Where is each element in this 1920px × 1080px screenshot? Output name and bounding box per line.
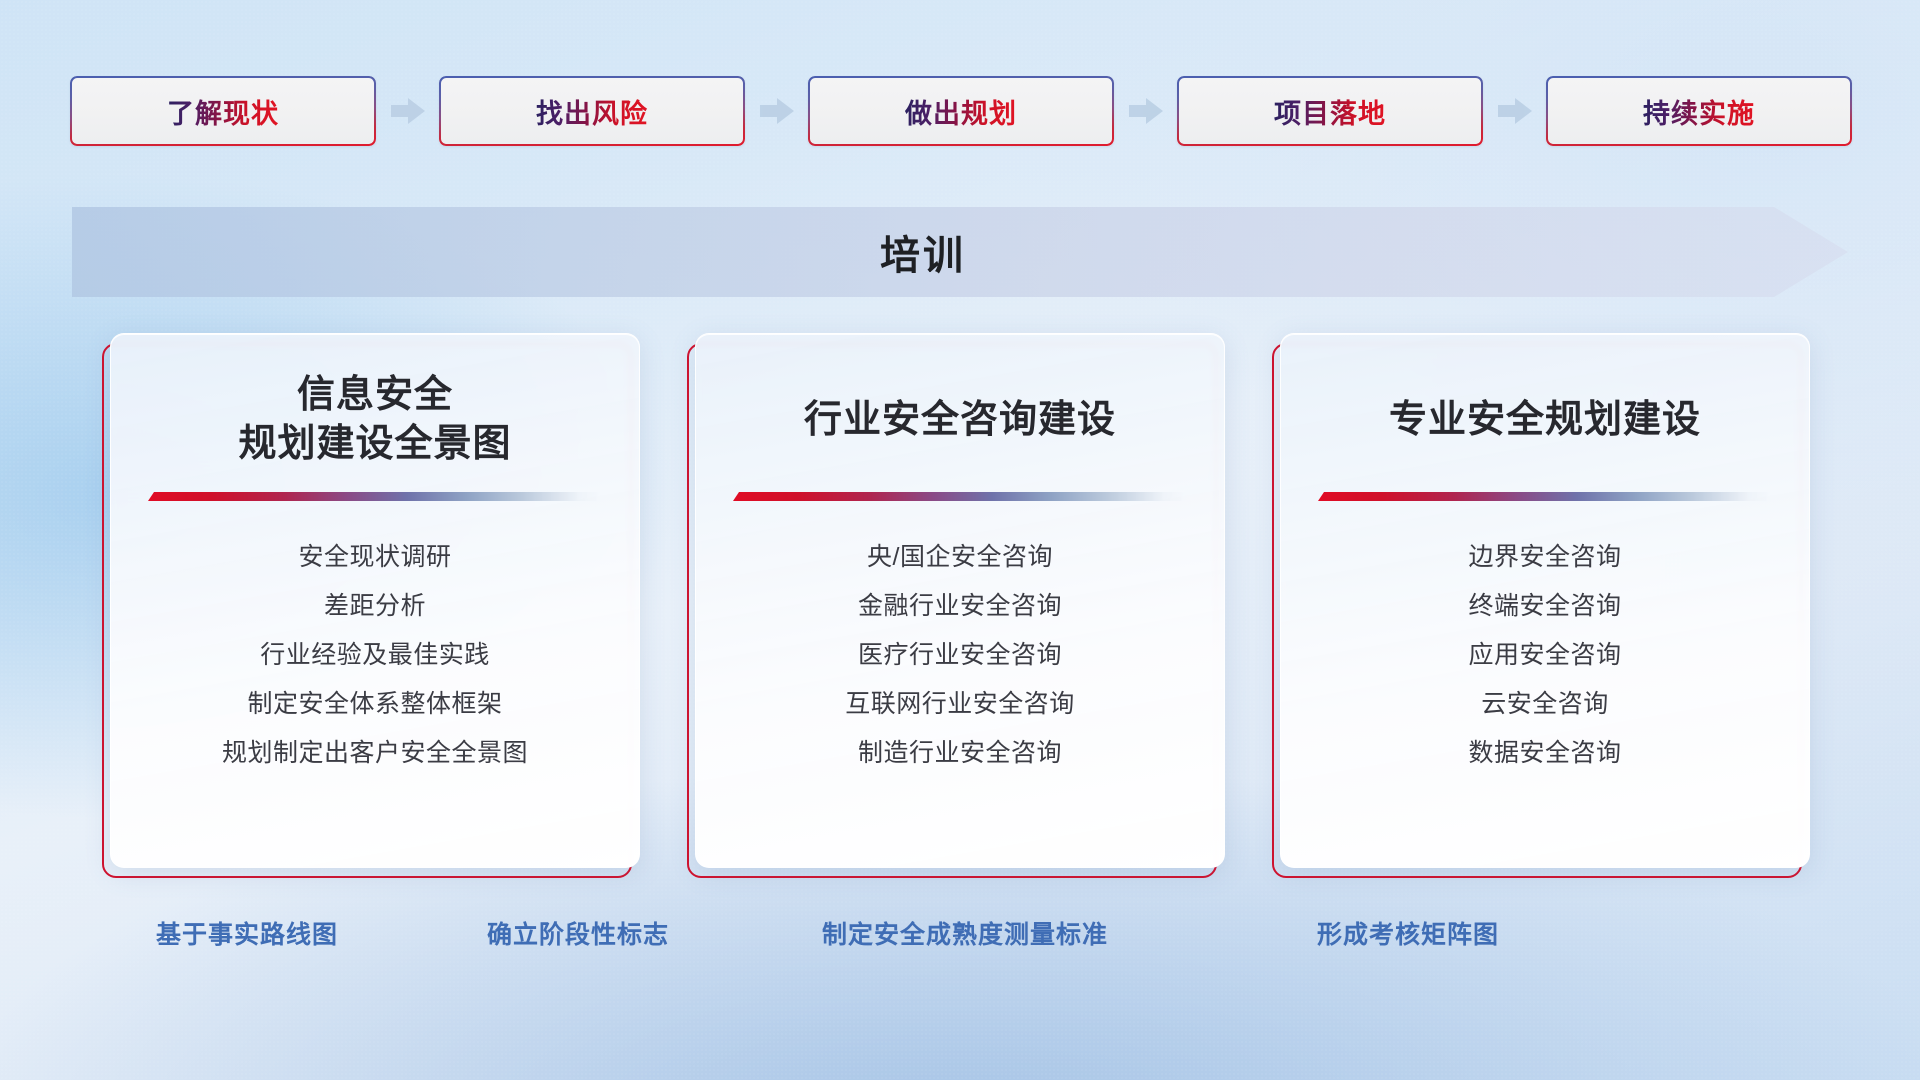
- footer-label-4: 形成考核矩阵图: [1317, 915, 1499, 951]
- list-item[interactable]: 行业经验及最佳实践: [111, 631, 639, 680]
- card-item-list: 安全现状调研差距分析行业经验及最佳实践制定安全体系整体框架规划制定出客户安全全景…: [111, 533, 639, 778]
- list-item[interactable]: 医疗行业安全咨询: [696, 631, 1224, 680]
- card-group: 信息安全规划建设全景图安全现状调研差距分析行业经验及最佳实践制定安全体系整体框架…: [110, 333, 1810, 868]
- list-item[interactable]: 边界安全咨询: [1281, 533, 1809, 582]
- list-item[interactable]: 终端安全咨询: [1281, 582, 1809, 631]
- process-step-4[interactable]: 项目落地: [1177, 76, 1483, 146]
- list-item[interactable]: 互联网行业安全咨询: [696, 680, 1224, 729]
- list-item[interactable]: 规划制定出客户安全全景图: [111, 729, 639, 778]
- process-step-label: 项目落地: [1274, 92, 1386, 131]
- card-title-line: 行业安全咨询建设: [804, 396, 1116, 445]
- process-step-label: 找出风险: [536, 92, 648, 131]
- card-divider: [733, 492, 1187, 501]
- process-step-label: 持续实施: [1643, 92, 1755, 131]
- service-card-1[interactable]: 信息安全规划建设全景图安全现状调研差距分析行业经验及最佳实践制定安全体系整体框架…: [110, 333, 640, 868]
- list-item[interactable]: 应用安全咨询: [1281, 631, 1809, 680]
- footer-label-group: 基于事实路线图确立阶段性标志制定安全成熟度测量标准形成考核矩阵图: [0, 915, 1920, 955]
- service-card-2[interactable]: 行业安全咨询建设央/国企安全咨询金融行业安全咨询医疗行业安全咨询互联网行业安全咨…: [695, 333, 1225, 868]
- list-item[interactable]: 数据安全咨询: [1281, 729, 1809, 778]
- process-step-3[interactable]: 做出规划: [808, 76, 1114, 146]
- step-connector-2: [745, 98, 808, 124]
- chevron-right-icon: [1498, 98, 1532, 124]
- card-item-list: 边界安全咨询终端安全咨询应用安全咨询云安全咨询数据安全咨询: [1281, 533, 1809, 778]
- process-step-label: 做出规划: [905, 92, 1017, 131]
- list-item[interactable]: 云安全咨询: [1281, 680, 1809, 729]
- step-connector-3: [1114, 98, 1177, 124]
- banner-title: 培训: [72, 207, 1774, 297]
- card-divider: [1318, 492, 1772, 501]
- step-connector-1: [376, 98, 439, 124]
- process-step-1[interactable]: 了解现状: [70, 76, 376, 146]
- step-connector-4: [1483, 98, 1546, 124]
- card-title-line: 专业安全规划建设: [1389, 396, 1701, 445]
- process-step-5[interactable]: 持续实施: [1546, 76, 1852, 146]
- card-title: 行业安全咨询建设: [778, 370, 1142, 470]
- training-banner: 培训: [72, 207, 1848, 297]
- footer-label-1: 基于事实路线图: [156, 915, 338, 951]
- list-item[interactable]: 制定安全体系整体框架: [111, 680, 639, 729]
- card-item-list: 央/国企安全咨询金融行业安全咨询医疗行业安全咨询互联网行业安全咨询制造行业安全咨…: [696, 533, 1224, 778]
- card-body: 信息安全规划建设全景图安全现状调研差距分析行业经验及最佳实践制定安全体系整体框架…: [110, 333, 640, 868]
- chevron-right-icon: [391, 98, 425, 124]
- card-title-line: 规划建设全景图: [238, 420, 511, 469]
- chevron-right-icon: [1129, 98, 1163, 124]
- list-item[interactable]: 制造行业安全咨询: [696, 729, 1224, 778]
- card-title: 专业安全规划建设: [1363, 370, 1727, 470]
- list-item[interactable]: 差距分析: [111, 582, 639, 631]
- infographic-canvas: 了解现状找出风险做出规划项目落地持续实施 培训 信息安全规划建设全景图安全现状调…: [0, 0, 1920, 1080]
- card-body: 专业安全规划建设边界安全咨询终端安全咨询应用安全咨询云安全咨询数据安全咨询: [1280, 333, 1810, 868]
- process-step-label: 了解现状: [167, 92, 279, 131]
- list-item[interactable]: 安全现状调研: [111, 533, 639, 582]
- card-divider: [148, 492, 602, 501]
- chevron-right-icon: [760, 98, 794, 124]
- card-title: 信息安全规划建设全景图: [212, 370, 537, 470]
- footer-label-2: 确立阶段性标志: [487, 915, 669, 951]
- footer-label-3: 制定安全成熟度测量标准: [822, 915, 1108, 951]
- process-step-2[interactable]: 找出风险: [439, 76, 745, 146]
- card-body: 行业安全咨询建设央/国企安全咨询金融行业安全咨询医疗行业安全咨询互联网行业安全咨…: [695, 333, 1225, 868]
- process-step-row: 了解现状找出风险做出规划项目落地持续实施: [70, 76, 1852, 146]
- list-item[interactable]: 央/国企安全咨询: [696, 533, 1224, 582]
- list-item[interactable]: 金融行业安全咨询: [696, 582, 1224, 631]
- service-card-3[interactable]: 专业安全规划建设边界安全咨询终端安全咨询应用安全咨询云安全咨询数据安全咨询: [1280, 333, 1810, 868]
- card-title-line: 信息安全: [238, 371, 511, 420]
